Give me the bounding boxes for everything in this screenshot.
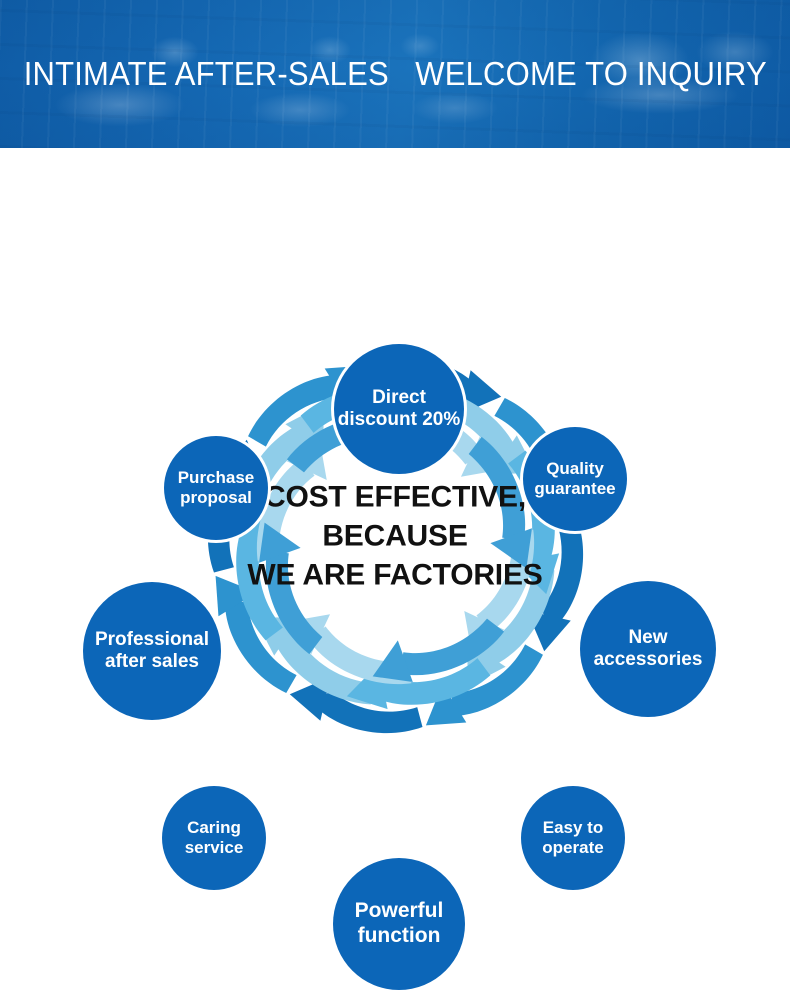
node-powerful-function[interactable]: Powerful function (333, 858, 465, 990)
node-caring-service-label: Caring service (185, 818, 244, 858)
header-banner: INTIMATE AFTER-SALES WELCOME TO INQUIRY (0, 0, 790, 148)
banner-content: INTIMATE AFTER-SALES WELCOME TO INQUIRY (0, 0, 790, 148)
cycle-diagram: COST EFFECTIVE, BECAUSE WE ARE FACTORIES… (0, 148, 790, 855)
node-quality-guarantee-label: Quality guarantee (534, 459, 615, 499)
node-professional-after-sales[interactable]: Professional after sales (83, 582, 221, 720)
node-quality-guarantee[interactable]: Quality guarantee (523, 427, 627, 531)
node-direct-discount-label: Direct discount 20% (338, 387, 460, 431)
node-professional-after-sales-label: Professional after sales (95, 629, 209, 673)
banner-title: INTIMATE AFTER-SALES WELCOME TO INQUIRY (23, 55, 766, 93)
node-direct-discount[interactable]: Direct discount 20% (334, 344, 464, 474)
node-new-accessories[interactable]: New accessories (580, 581, 716, 717)
node-easy-to-operate[interactable]: Easy to operate (521, 786, 625, 890)
node-new-accessories-label: New accessories (594, 627, 703, 671)
node-caring-service[interactable]: Caring service (162, 786, 266, 890)
node-powerful-function-label: Powerful function (355, 899, 444, 948)
node-purchase-proposal[interactable]: Purchase proposal (164, 436, 268, 540)
node-easy-to-operate-label: Easy to operate (542, 818, 603, 858)
node-purchase-proposal-label: Purchase proposal (178, 468, 255, 508)
center-slogan-line-3: WE ARE FACTORIES (180, 556, 610, 595)
